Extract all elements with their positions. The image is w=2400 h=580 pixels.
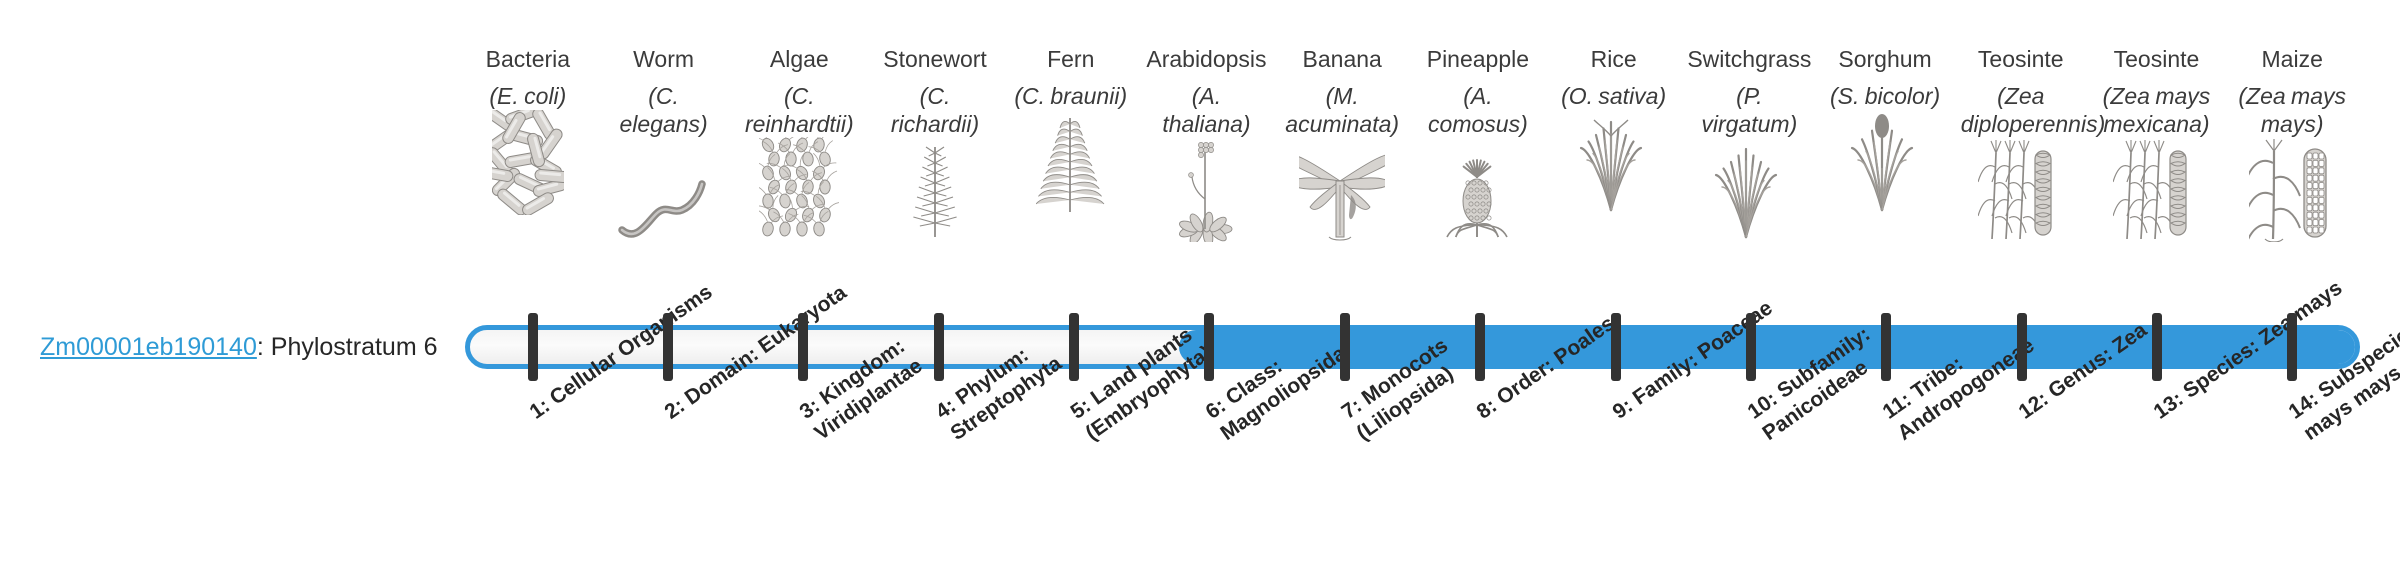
species-column: Sorghum(S. bicolor) [1817,46,1953,215]
species-common-name: Banana [1303,46,1382,72]
timeline-tick [1746,313,1756,381]
species-column: Worm(C. elegans) [596,46,732,242]
gene-phylostratum-label: Zm00001eb190140: Phylostratum 6 [40,334,438,362]
timeline-tick [798,313,808,381]
species-scientific-name: (P. virgatum) [1689,83,1809,137]
nematode-worm-icon [616,144,712,242]
phylostratum-timeline-widget: Zm00001eb190140: Phylostratum 6 Bacteria… [0,0,2400,580]
rank-number: 13: [2150,387,2188,423]
species-scientific-name: (M. acuminata) [1282,83,1402,137]
rank-number: 8: [1473,394,1502,424]
timeline-tick [1069,313,1079,381]
timeline-tick [1881,313,1891,381]
species-scientific-name: (C. richardii) [875,83,995,137]
arabidopsis-icon [1175,144,1237,242]
species-common-name: Fern [1047,46,1094,72]
species-columns: Bacteria(E. coli) [460,46,2360,301]
species-common-name: Rice [1591,46,1637,72]
timeline-tick [1204,313,1214,381]
species-common-name: Teosinte [2114,46,2200,72]
fern-frond-icon [1036,117,1106,215]
species-scientific-name: (S. bicolor) [1830,83,1940,110]
species-common-name: Maize [2262,46,2323,72]
bacteria-rods-icon [492,117,564,215]
maize-icon [2249,144,2335,242]
timeline-tick [1475,313,1485,381]
species-scientific-name: (A. thaliana) [1146,83,1266,137]
rank-number: 2: [661,394,690,424]
timeline-tick [2287,313,2297,381]
rice-plant-icon [1578,117,1650,215]
stonewort-icon [905,144,965,242]
species-common-name: Arabidopsis [1146,46,1266,72]
species-scientific-name: (A. comosus) [1418,83,1538,137]
timeline-tick [528,313,538,381]
species-scientific-name: (C. elegans) [604,83,724,137]
species-column: Bacteria(E. coli) [460,46,596,215]
species-common-name: Pineapple [1427,46,1529,72]
species-common-name: Switchgrass [1687,46,1811,72]
timeline-tick [2152,313,2162,381]
species-column: Rice(O. sativa) [1546,46,1682,215]
gene-label-separator: : [257,333,271,361]
algae-cells-icon [759,144,839,242]
timeline-tick [1340,313,1350,381]
species-column: Maize(Zea mays mays) [2224,46,2360,242]
gene-id-link[interactable]: Zm00001eb190140 [40,333,257,361]
species-column: Teosinte(Zea mays mexicana) [2089,46,2225,242]
species-column: Algae(C. reinhardtii) [731,46,867,242]
timeline-tick [934,313,944,381]
species-common-name: Algae [770,46,829,72]
species-scientific-name: (Zea mays mexicana) [2096,83,2216,137]
species-column: Banana(M. acuminata) [1274,46,1410,242]
species-column: Switchgrass(P. virgatum) [1681,46,1817,242]
species-column: Pineapple(A. comosus) [1410,46,1546,242]
species-scientific-name: (C. reinhardtii) [739,83,859,137]
timeline-tick [2017,313,2027,381]
species-scientific-name: (O. sativa) [1561,83,1666,110]
species-scientific-name: (C. braunii) [1014,83,1127,110]
switchgrass-icon [1713,144,1785,242]
species-column: Fern(C. braunii) [1003,46,1139,215]
pineapple-icon [1446,144,1510,242]
species-common-name: Sorghum [1838,46,1931,72]
species-scientific-name: (Zea diploperennis) [1961,83,2081,137]
species-column: Teosinte(Zea diploperennis) [1953,46,2089,242]
timeline-tick [1611,313,1621,381]
teosinte-diplo-icon [1978,144,2064,242]
species-column: Arabidopsis(A. thaliana) [1139,46,1275,242]
species-common-name: Stonewort [883,46,987,72]
rank-number: 9: [1608,394,1637,424]
timeline-tick [663,313,673,381]
species-common-name: Worm [633,46,694,72]
teosinte-mexicana-icon [2113,144,2199,242]
species-common-name: Bacteria [486,46,570,72]
species-scientific-name: (E. coli) [489,83,566,110]
sorghum-icon [1849,117,1921,215]
rank-number: 12: [2014,387,2052,423]
banana-plant-icon [1299,144,1385,242]
species-scientific-name: (Zea mays mays) [2232,83,2352,137]
species-column: Stonewort(C. richardii) [867,46,1003,242]
species-common-name: Teosinte [1978,46,2064,72]
phylostratum-value-text: Phylostratum 6 [271,333,438,361]
rank-number: 1: [525,394,554,424]
